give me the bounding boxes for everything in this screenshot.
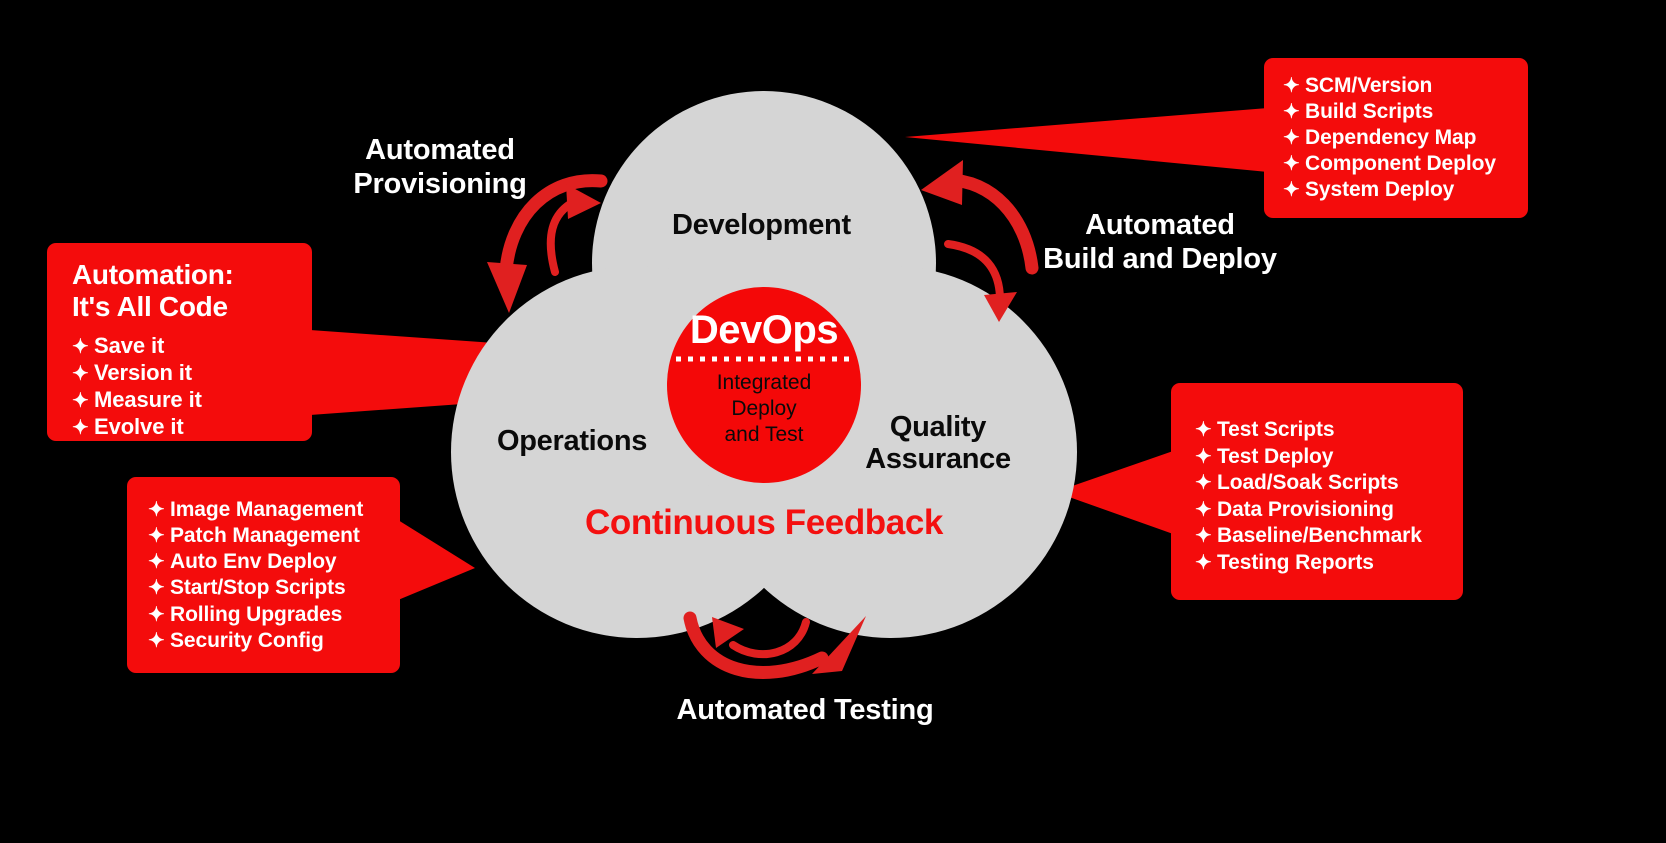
lobe-label-development: Development <box>672 209 851 241</box>
list-item: ✦ Test Scripts <box>1195 417 1463 444</box>
list-item-label: Load/Soak Scripts <box>1217 470 1399 497</box>
diamond-bullet-icon: ✦ <box>1283 100 1305 125</box>
list-item: ✦ Auto Env Deploy <box>148 549 400 575</box>
list-item: ✦ Save it <box>72 333 312 360</box>
lobe-label-operations: Operations <box>497 425 647 457</box>
core-subtitle-line1: Integrated <box>666 370 862 396</box>
callout-automation-title-line1: Automation: <box>72 259 312 291</box>
diamond-bullet-icon: ✦ <box>72 390 94 414</box>
list-item: ✦ Testing Reports <box>1195 550 1463 577</box>
diamond-bullet-icon: ✦ <box>1283 126 1305 151</box>
diamond-bullet-icon: ✦ <box>72 363 94 387</box>
list-item: ✦ Measure it <box>72 387 312 414</box>
caption-automated-provisioning: Automated Provisioning <box>340 133 540 201</box>
list-item-label: Evolve it <box>94 414 184 440</box>
list-item-label: Test Scripts <box>1217 417 1334 444</box>
diamond-bullet-icon: ✦ <box>1283 74 1305 99</box>
list-item-label: Save it <box>94 333 164 359</box>
list-item-label: Build Scripts <box>1305 99 1433 125</box>
continuous-feedback-label: Continuous Feedback <box>528 503 1000 543</box>
list-item: ✦ Baseline/Benchmark <box>1195 523 1463 550</box>
arrowhead-inner-bottom <box>712 617 744 648</box>
list-item-label: Dependency Map <box>1305 125 1476 151</box>
arrowhead-inner-top-left <box>566 184 601 219</box>
list-item: ✦ Dependency Map <box>1283 125 1528 151</box>
diamond-bullet-icon: ✦ <box>148 629 170 654</box>
list-item-label: Testing Reports <box>1217 550 1374 577</box>
list-item-label: Patch Management <box>170 523 360 549</box>
diamond-bullet-icon: ✦ <box>1195 418 1217 443</box>
list-item-label: Test Deploy <box>1217 444 1333 471</box>
list-item: ✦ System Deploy <box>1283 177 1528 203</box>
callout-operations-list: ✦ Image Management ✦ Patch Management ✦ … <box>148 497 400 654</box>
list-item: ✦ Security Config <box>148 628 400 654</box>
caption-automated-build-and-deploy: Automated Build and Deploy <box>1035 208 1285 276</box>
connector-wedge-scm <box>905 108 1268 172</box>
lobe-label-quality-line2: Assurance <box>862 443 1014 475</box>
diamond-bullet-icon: ✦ <box>1195 471 1217 496</box>
diamond-bullet-icon: ✦ <box>148 498 170 523</box>
list-item: ✦ SCM/Version <box>1283 73 1528 99</box>
core-subtitle-line2: Deploy <box>666 396 862 422</box>
devops-diagram: Development Operations Quality Assurance… <box>0 0 1666 843</box>
caption-testing-line1: Automated Testing <box>660 693 950 727</box>
list-item-label: Component Deploy <box>1305 151 1496 177</box>
callout-automation-list: ✦ Save it ✦ Version it ✦ Measure it ✦ Ev… <box>72 333 312 440</box>
list-item: ✦ Rolling Upgrades <box>148 602 400 628</box>
core-subtitle-line3: and Test <box>666 422 862 448</box>
callout-scm-list: ✦ SCM/Version ✦ Build Scripts ✦ Dependen… <box>1283 73 1528 203</box>
connector-wedge-ops <box>398 520 475 600</box>
callout-automation-its-all-code: Automation: It's All Code ✦ Save it ✦ Ve… <box>47 243 312 441</box>
list-item: ✦ Data Provisioning <box>1195 497 1463 524</box>
arrowhead-outer-top-left <box>487 262 527 313</box>
list-item-label: Rolling Upgrades <box>170 602 342 628</box>
diamond-bullet-icon: ✦ <box>1283 152 1305 177</box>
diamond-bullet-icon: ✦ <box>1195 524 1217 549</box>
diamond-bullet-icon: ✦ <box>1195 445 1217 470</box>
diamond-bullet-icon: ✦ <box>148 550 170 575</box>
caption-automated-testing: Automated Testing <box>660 693 950 727</box>
diamond-bullet-icon: ✦ <box>72 417 94 441</box>
caption-provisioning-line1: Automated <box>340 133 540 167</box>
list-item: ✦ Patch Management <box>148 523 400 549</box>
arrowhead-outer-top-right <box>921 160 963 205</box>
list-item-label: Security Config <box>170 628 324 654</box>
diamond-bullet-icon: ✦ <box>1195 498 1217 523</box>
list-item-label: Measure it <box>94 387 202 413</box>
list-item: ✦ Evolve it <box>72 414 312 441</box>
core-title-devops: DevOps <box>666 310 862 350</box>
list-item-label: System Deploy <box>1305 177 1454 203</box>
diamond-bullet-icon: ✦ <box>1283 178 1305 203</box>
list-item-label: Baseline/Benchmark <box>1217 523 1422 550</box>
list-item: ✦ Test Deploy <box>1195 444 1463 471</box>
list-item-label: Data Provisioning <box>1217 497 1394 524</box>
caption-build-line2: Build and Deploy <box>1035 242 1285 276</box>
lobe-label-quality-line1: Quality <box>862 411 1014 443</box>
list-item: ✦ Image Management <box>148 497 400 523</box>
list-item: ✦ Version it <box>72 360 312 387</box>
diamond-bullet-icon: ✦ <box>1195 551 1217 576</box>
diamond-bullet-icon: ✦ <box>148 576 170 601</box>
list-item: ✦ Build Scripts <box>1283 99 1528 125</box>
callout-automation-title-line2: It's All Code <box>72 291 312 323</box>
list-item-label: Version it <box>94 360 192 386</box>
list-item: ✦ Component Deploy <box>1283 151 1528 177</box>
list-item: ✦ Start/Stop Scripts <box>148 575 400 601</box>
list-item: ✦ Load/Soak Scripts <box>1195 470 1463 497</box>
caption-provisioning-line2: Provisioning <box>340 167 540 201</box>
callout-testing-list: ✦ Test Scripts ✦ Test Deploy ✦ Load/Soak… <box>1195 417 1463 576</box>
callout-operations: ✦ Image Management ✦ Patch Management ✦ … <box>127 477 400 673</box>
callout-testing: ✦ Test Scripts ✦ Test Deploy ✦ Load/Soak… <box>1171 383 1463 600</box>
list-item-label: Auto Env Deploy <box>170 549 337 575</box>
callout-automation-title: Automation: It's All Code <box>72 259 312 323</box>
diamond-bullet-icon: ✦ <box>148 603 170 628</box>
list-item-label: SCM/Version <box>1305 73 1432 99</box>
lobe-label-quality-assurance: Quality Assurance <box>862 411 1014 476</box>
diamond-bullet-icon: ✦ <box>72 336 94 360</box>
list-item-label: Start/Stop Scripts <box>170 575 346 601</box>
diamond-bullet-icon: ✦ <box>148 524 170 549</box>
core-subtitle: Integrated Deploy and Test <box>666 370 862 448</box>
arrow-inner-bottom <box>733 622 806 654</box>
callout-scm-build-deploy: ✦ SCM/Version ✦ Build Scripts ✦ Dependen… <box>1264 58 1528 218</box>
list-item-label: Image Management <box>170 497 363 523</box>
caption-build-line1: Automated <box>1035 208 1285 242</box>
